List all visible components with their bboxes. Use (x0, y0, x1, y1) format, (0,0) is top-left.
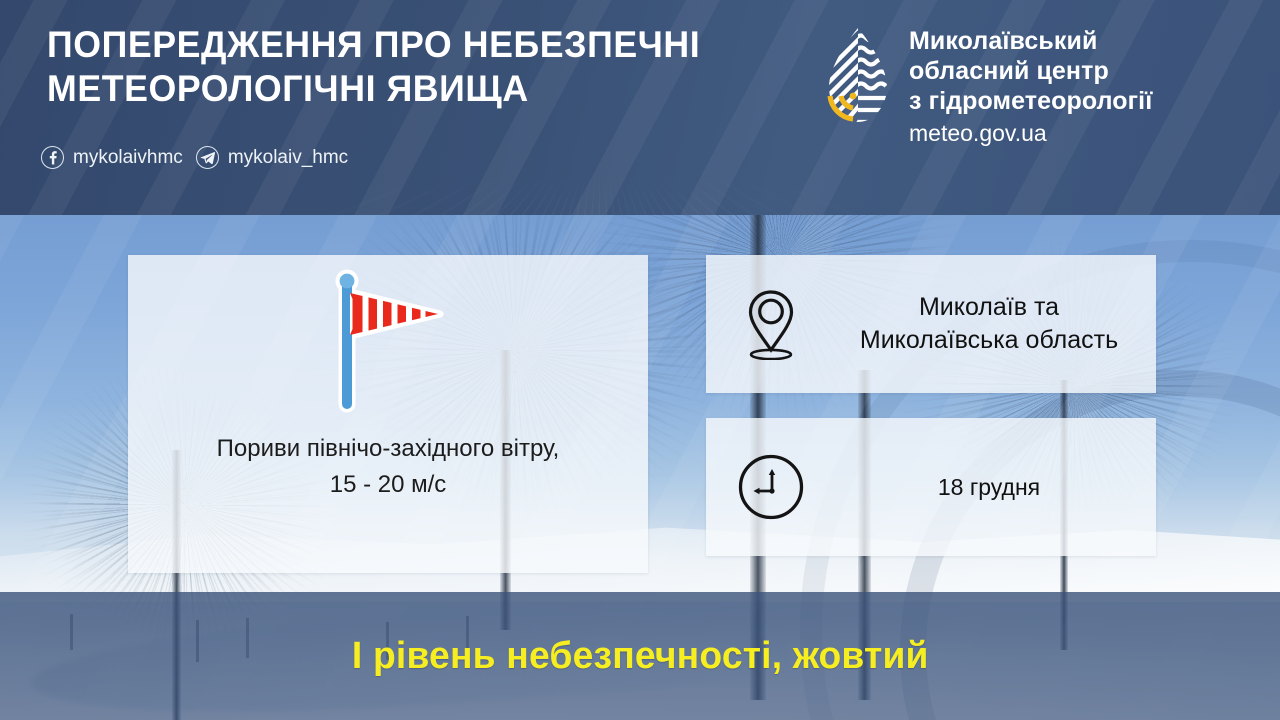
danger-level-text: І рівень небезпечності, жовтий (352, 635, 929, 678)
windsock-icon (328, 263, 448, 418)
telegram-handle: mykolaiv_hmc (228, 146, 348, 169)
brand-name: Миколаївський обласний центр з гідромете… (909, 26, 1152, 116)
danger-level-banner: І рівень небезпечності, жовтий (0, 592, 1280, 720)
location-card: Миколаїв та Миколаївська область (706, 255, 1156, 393)
location-label: Миколаїв та Миколаївська область (836, 291, 1156, 357)
social-link-telegram[interactable]: mykolaiv_hmc (196, 146, 348, 169)
clock-icon (706, 451, 836, 523)
facebook-icon (41, 146, 64, 169)
brand-lockup: Миколаївський обласний центр з гідромете… (823, 26, 1152, 148)
warning-description: Пориви північо-західного вітру, 15 - 20 … (128, 431, 648, 503)
facebook-handle: mykolaivhmc (73, 146, 183, 169)
map-pin-icon (706, 288, 836, 360)
date-card: 18 грудня (706, 418, 1156, 556)
telegram-icon (196, 146, 219, 169)
social-links: mykolaivhmc mykolaiv_hmc (41, 146, 348, 169)
weather-warning-poster: ПОПЕРЕДЖЕННЯ ПРО НЕБЕЗПЕЧНІ МЕТЕОРОЛОГІЧ… (0, 0, 1280, 720)
brand-text: Миколаївський обласний центр з гідромете… (909, 26, 1152, 148)
brand-website[interactable]: meteo.gov.ua (909, 118, 1152, 148)
date-label: 18 грудня (836, 471, 1156, 504)
social-link-facebook[interactable]: mykolaivhmc (41, 146, 183, 169)
warning-card: Пориви північо-західного вітру, 15 - 20 … (128, 255, 648, 573)
water-drop-logo-icon (823, 26, 893, 126)
page-title: ПОПЕРЕДЖЕННЯ ПРО НЕБЕЗПЕЧНІ МЕТЕОРОЛОГІЧ… (47, 23, 790, 111)
